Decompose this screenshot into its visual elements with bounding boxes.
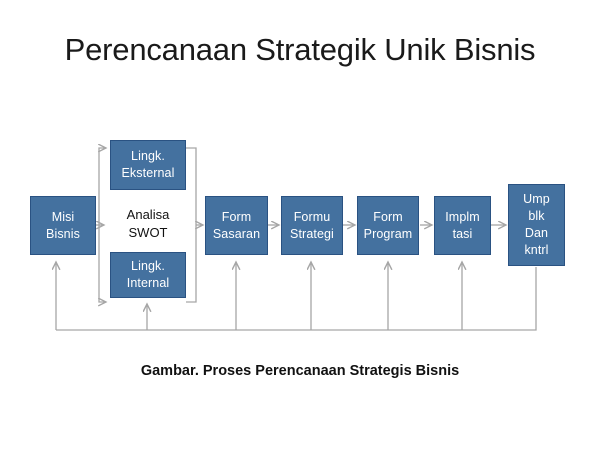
node-label-line: Implm xyxy=(445,209,480,226)
node-label-line: Lingk. xyxy=(131,148,165,165)
node-misi-bisnis[interactable]: Misi Bisnis xyxy=(30,196,96,255)
node-label-line: Program xyxy=(364,226,413,243)
process-flow-diagram: Misi Bisnis Lingk. Eksternal Analisa SWO… xyxy=(0,120,600,350)
node-label-line: tasi xyxy=(453,226,473,243)
node-label-line: Lingk. xyxy=(131,258,165,275)
node-label-line: Sasaran xyxy=(213,226,260,243)
node-lingk-eksternal[interactable]: Lingk. Eksternal xyxy=(110,140,186,190)
label-line: Analisa xyxy=(127,206,170,224)
label-line: SWOT xyxy=(129,224,168,242)
node-label-line: blk xyxy=(528,208,544,225)
page-title: Perencanaan Strategik Unik Bisnis xyxy=(0,32,600,68)
node-label-line: kntrl xyxy=(524,242,548,259)
node-label-line: Bisnis xyxy=(46,226,80,243)
figure-caption: Gambar. Proses Perencanaan Strategis Bis… xyxy=(0,363,600,379)
node-label-line: Ump xyxy=(523,191,550,208)
node-implementasi[interactable]: Implm tasi xyxy=(434,196,491,255)
slide-canvas: Perencanaan Strategik Unik Bisnis xyxy=(0,0,600,449)
node-label-line: Form xyxy=(222,209,252,226)
node-label-line: Formu xyxy=(294,209,331,226)
node-label-line: Form xyxy=(373,209,403,226)
node-label-line: Eksternal xyxy=(121,165,174,182)
node-label-line: Misi xyxy=(52,209,75,226)
node-label-line: Strategi xyxy=(290,226,334,243)
node-form-sasaran[interactable]: Form Sasaran xyxy=(205,196,268,255)
label-analisa-swot: Analisa SWOT xyxy=(110,196,186,252)
node-label-line: Dan xyxy=(525,225,548,242)
node-umpan-balik-dan-kontrol[interactable]: Ump blk Dan kntrl xyxy=(508,184,565,266)
node-lingk-internal[interactable]: Lingk. Internal xyxy=(110,252,186,298)
node-form-program[interactable]: Form Program xyxy=(357,196,419,255)
node-label-line: Internal xyxy=(127,275,170,292)
node-formu-strategi[interactable]: Formu Strategi xyxy=(281,196,343,255)
